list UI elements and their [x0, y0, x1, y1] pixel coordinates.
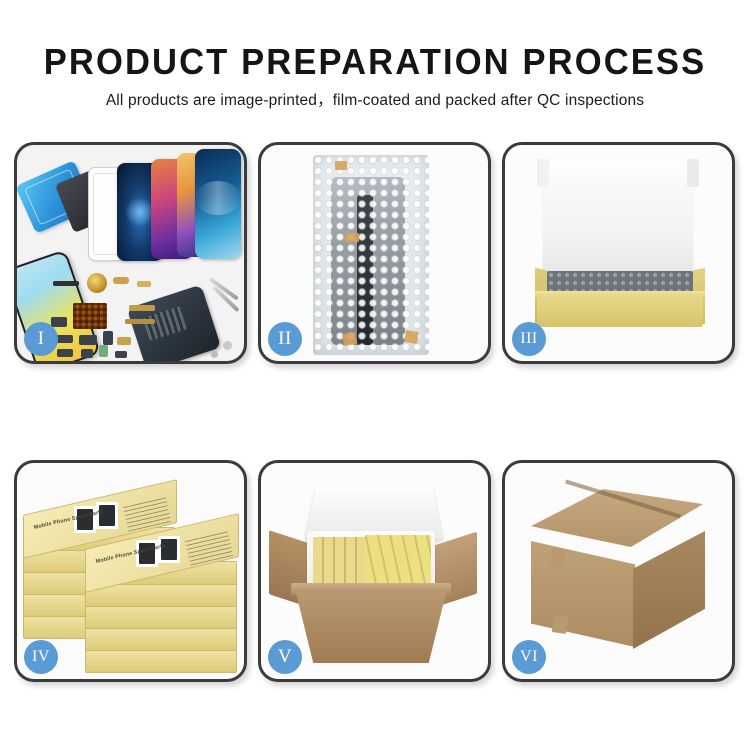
process-step-panel-5: V	[258, 460, 491, 682]
bubble-texture	[313, 155, 429, 355]
spare-part	[81, 349, 93, 358]
step-badge-1: I	[24, 322, 58, 356]
process-step-panel-4: Mobile Phone Spare Parts Mobile Phone Sp…	[14, 460, 247, 682]
spare-part	[113, 277, 129, 284]
spare-part	[223, 341, 232, 350]
process-step-panel-1: I	[14, 142, 247, 364]
carton-body	[295, 589, 447, 663]
spare-part	[137, 281, 151, 287]
stacked-box	[85, 627, 237, 651]
spare-part	[103, 331, 113, 345]
carton-front-face	[531, 541, 635, 647]
process-step-grid: I II	[14, 142, 736, 687]
yellow-box-front	[537, 295, 703, 327]
phone-lcd-teal	[195, 149, 241, 259]
carton-tape	[550, 548, 566, 568]
spare-part	[211, 351, 218, 358]
spare-part	[129, 305, 155, 311]
step-badge-4: IV	[24, 640, 58, 674]
header: PRODUCT PREPARATION PROCESS All products…	[0, 0, 750, 111]
page-title: PRODUCT PREPARATION PROCESS	[15, 42, 735, 82]
gold-coil-part	[87, 273, 107, 293]
carton-tape	[552, 614, 568, 634]
stacked-box	[85, 605, 237, 629]
spare-part	[117, 337, 131, 345]
white-foam-sheet	[543, 159, 693, 281]
spare-part	[51, 317, 67, 327]
process-step-panel-3: III	[502, 142, 735, 364]
bag-tape	[404, 330, 419, 344]
carton-side-face	[633, 531, 705, 649]
process-step-panel-6: VI	[502, 460, 735, 682]
page-subtitle: All products are image-printed，film-coat…	[0, 91, 750, 111]
spare-part	[99, 345, 108, 357]
step-badge-5: V	[268, 640, 302, 674]
spare-part	[57, 349, 73, 357]
step-badge-3: III	[512, 322, 546, 356]
spare-part	[79, 335, 97, 345]
process-step-panel-2: II	[258, 142, 491, 364]
stacked-box	[85, 649, 237, 673]
chip-board-part	[73, 303, 107, 329]
step-badge-6: VI	[512, 640, 546, 674]
bubble-wrap-bag	[313, 155, 429, 355]
bag-tape	[345, 233, 359, 242]
product-preparation-process-infographic: PRODUCT PREPARATION PROCESS All products…	[0, 0, 750, 750]
step-badge-2: II	[268, 322, 302, 356]
bag-tape	[335, 161, 347, 170]
spare-part	[53, 281, 79, 286]
spare-part	[115, 351, 127, 358]
yellow-boxes-inside	[365, 535, 431, 585]
spare-part	[125, 319, 155, 324]
